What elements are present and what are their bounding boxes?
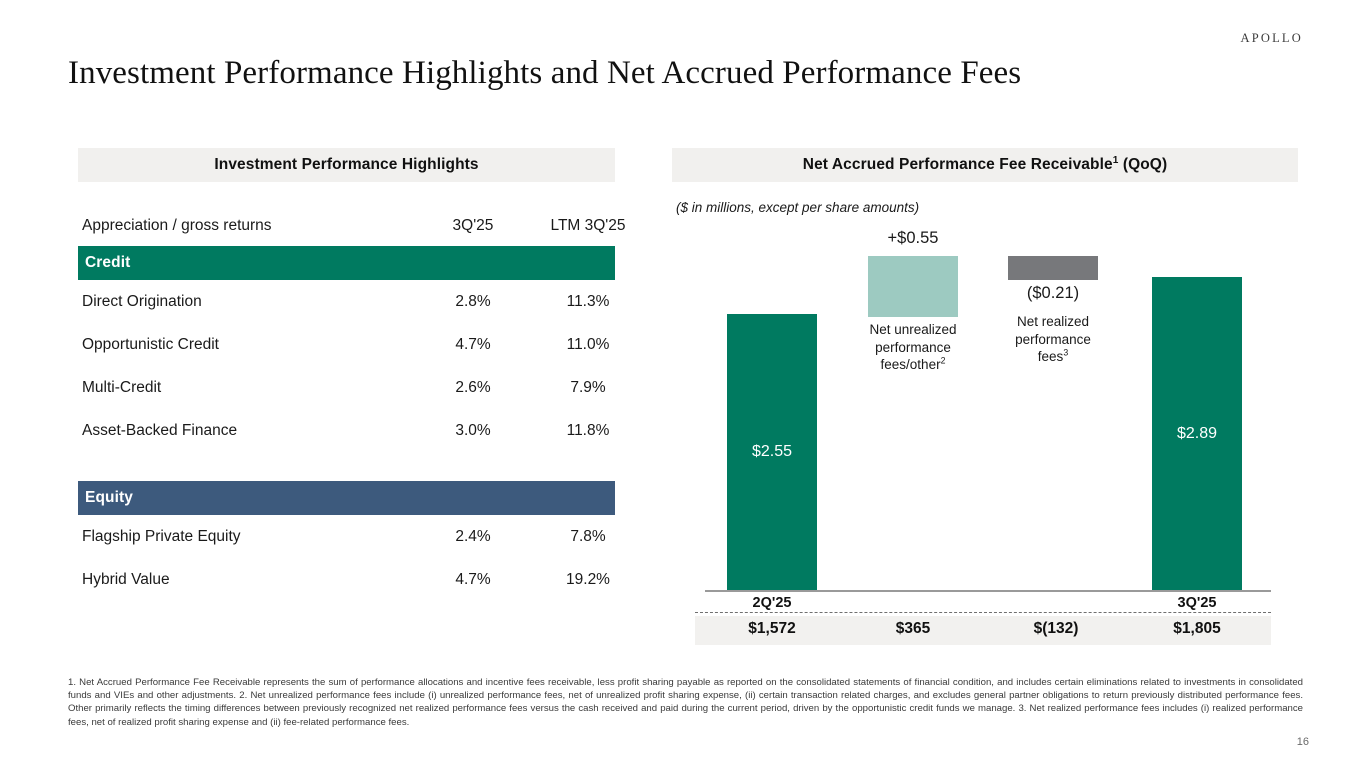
- left-panel-header-label: Investment Performance Highlights: [214, 156, 478, 174]
- right-panel-header: Net Accrued Performance Fee Receivable1 …: [672, 148, 1298, 182]
- row-value-ltm: 7.9%: [540, 379, 636, 397]
- row-value-3q25: 2.8%: [430, 293, 516, 311]
- row-label-hybrid-value: Hybrid Value: [82, 571, 170, 589]
- bar-realized-caption: Net realized performance fees3: [993, 313, 1113, 366]
- row-label-multi-credit: Multi-Credit: [82, 379, 161, 397]
- page-number: 16: [1297, 736, 1309, 748]
- axis-tick-3q25: 3Q'25: [1152, 595, 1242, 611]
- table-row: Multi-Credit 2.6% 7.9%: [78, 366, 615, 409]
- section-band-credit-label: Credit: [85, 254, 130, 272]
- row-value-3q25: 4.7%: [430, 571, 516, 589]
- row-value-ltm: 7.8%: [540, 528, 636, 546]
- right-panel-header-tail: (QoQ): [1118, 156, 1167, 173]
- apollo-logo: APOLLO: [1240, 31, 1303, 46]
- row-value-ltm: 11.0%: [540, 336, 636, 354]
- table-row: Hybrid Value 4.7% 19.2%: [78, 558, 615, 601]
- summary-value-2q25: $1,572: [712, 620, 832, 638]
- investment-performance-table: Appreciation / gross returns 3Q'25 LTM 3…: [78, 206, 615, 601]
- section-band-equity: Equity: [78, 481, 615, 515]
- row-label-opportunistic-credit: Opportunistic Credit: [82, 336, 219, 354]
- row-value-3q25: 3.0%: [430, 422, 516, 440]
- summary-value-realized: $(132): [996, 620, 1116, 638]
- column-header-3q25: 3Q'25: [430, 217, 516, 235]
- caption-footnote-marker: 2: [941, 356, 946, 366]
- section-spacer: [78, 452, 615, 481]
- axis-tick-2q25: 2Q'25: [727, 595, 817, 611]
- bar-unrealized-caption: Net unrealized performance fees/other2: [848, 321, 978, 374]
- row-value-3q25: 2.6%: [430, 379, 516, 397]
- section-band-credit: Credit: [78, 246, 615, 280]
- column-header-label: Appreciation / gross returns: [82, 217, 272, 235]
- right-panel-header-main: Net Accrued Performance Fee Receivable: [803, 156, 1113, 173]
- row-label-flagship-private-equity: Flagship Private Equity: [82, 528, 241, 546]
- caption-line-2: performance: [1015, 332, 1091, 347]
- caption-footnote-marker: 3: [1063, 348, 1068, 358]
- caption-line-3: fees/other: [881, 357, 941, 372]
- chart-units-note: ($ in millions, except per share amounts…: [676, 200, 919, 215]
- row-value-3q25: 2.4%: [430, 528, 516, 546]
- right-panel-header-label: Net Accrued Performance Fee Receivable1 …: [803, 156, 1167, 174]
- table-row: Opportunistic Credit 4.7% 11.0%: [78, 323, 615, 366]
- row-value-ltm: 19.2%: [540, 571, 636, 589]
- row-label-direct-origination: Direct Origination: [82, 293, 202, 311]
- page-title: Investment Performance Highlights and Ne…: [68, 52, 1021, 94]
- caption-line-1: Net realized: [1017, 314, 1089, 329]
- chart-axis-line: [705, 590, 1271, 592]
- bar-2q25-value-label: $2.55: [727, 443, 817, 461]
- row-label-asset-backed-finance: Asset-Backed Finance: [82, 422, 237, 440]
- caption-line-3: fees: [1038, 349, 1064, 364]
- row-value-ltm: 11.8%: [540, 422, 636, 440]
- summary-separator: [695, 612, 1271, 613]
- table-row: Direct Origination 2.8% 11.3%: [78, 280, 615, 323]
- table-column-header-row: Appreciation / gross returns 3Q'25 LTM 3…: [78, 206, 615, 246]
- bar-3q25-value-label: $2.89: [1152, 425, 1242, 443]
- column-header-ltm-3q25: LTM 3Q'25: [540, 217, 636, 235]
- bar-net-unrealized-performance-fees: [868, 256, 958, 317]
- summary-value-3q25: $1,805: [1137, 620, 1257, 638]
- slide-canvas: APOLLO Investment Performance Highlights…: [0, 0, 1365, 768]
- section-band-equity-label: Equity: [85, 489, 133, 507]
- caption-line-1: Net unrealized: [869, 322, 956, 337]
- summary-value-unrealized: $365: [853, 620, 973, 638]
- bar-unrealized-delta-label: +$0.55: [858, 229, 968, 248]
- bar-realized-delta-label: ($0.21): [998, 284, 1108, 303]
- table-row: Flagship Private Equity 2.4% 7.8%: [78, 515, 615, 558]
- caption-line-2: performance: [875, 340, 951, 355]
- row-value-3q25: 4.7%: [430, 336, 516, 354]
- footnotes: 1. Net Accrued Performance Fee Receivabl…: [68, 676, 1303, 729]
- left-panel-header: Investment Performance Highlights: [78, 148, 615, 182]
- table-row: Asset-Backed Finance 3.0% 11.8%: [78, 409, 615, 452]
- row-value-ltm: 11.3%: [540, 293, 636, 311]
- bar-net-realized-performance-fees: [1008, 256, 1098, 280]
